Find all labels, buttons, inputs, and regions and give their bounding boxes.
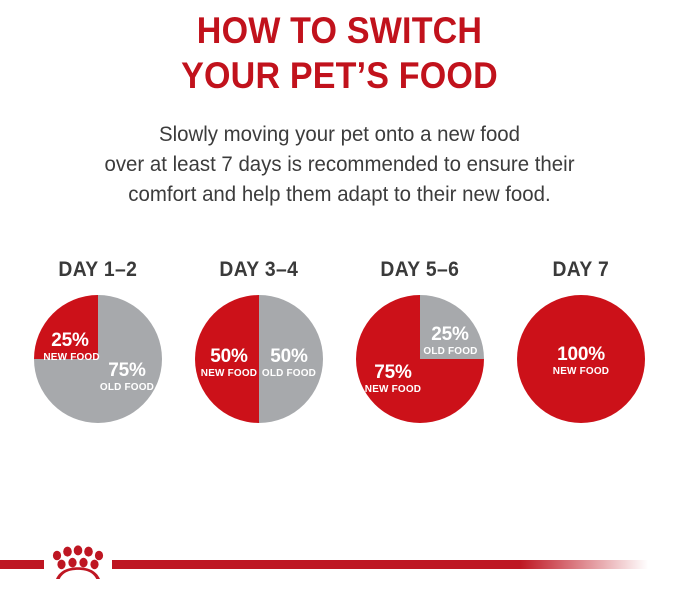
intro-paragraph: Slowly moving your pet onto a new food o… [17,119,662,209]
footer-rule-left [0,560,44,569]
royal-canin-crown-icon [46,543,110,579]
pie-chart-3: DAY 5–675%NEW FOOD25%OLD FOOD [344,258,496,448]
footer-rule-right [112,560,648,569]
pie-slice-old-food [259,295,323,423]
pie-day-label: DAY 3–4 [220,258,299,282]
pie-chart-1: DAY 1–225%NEW FOOD75%OLD FOOD [22,258,174,448]
pie-chart-4: DAY 7100%NEW FOOD [505,258,657,448]
pie-slice-new-food [517,295,645,423]
intro-line-2: over at least 7 days is recommended to e… [17,149,662,179]
footer [0,534,679,594]
page-title-line-1: HOW TO SWITCH [27,8,652,53]
pie-day-label: DAY 1–2 [59,258,138,282]
pie-slice-new-food [195,295,259,423]
pie-chart-2: DAY 3–450%NEW FOOD50%OLD FOOD [183,258,335,448]
pie-graphic: 100%NEW FOOD [517,295,645,423]
pie-graphic: 75%NEW FOOD25%OLD FOOD [356,295,484,423]
pie-graphic: 50%NEW FOOD50%OLD FOOD [195,295,323,423]
pie-day-label: DAY 5–6 [381,258,460,282]
page-title: HOW TO SWITCH YOUR PET’S FOOD [27,0,652,98]
pie-graphic: 25%NEW FOOD75%OLD FOOD [34,295,162,423]
pie-chart-row: DAY 1–225%NEW FOOD75%OLD FOODDAY 3–450%N… [0,258,679,448]
page-title-line-2: YOUR PET’S FOOD [27,53,652,98]
intro-line-3: comfort and help them adapt to their new… [17,179,662,209]
pie-slice-new-food [34,295,98,359]
intro-line-1: Slowly moving your pet onto a new food [17,119,662,149]
pie-slice-old-food [420,295,484,359]
pie-day-label: DAY 7 [553,258,610,282]
